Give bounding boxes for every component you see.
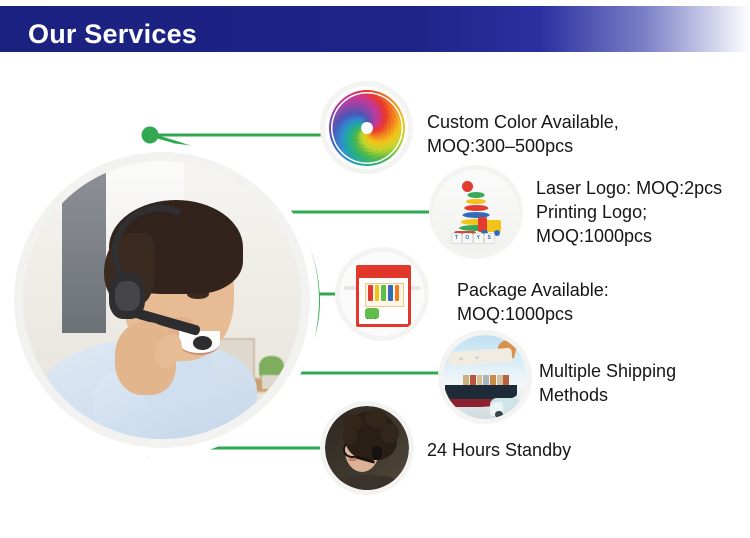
label-standby: 24 Hours Standby [427,438,571,462]
services-infographic: Our Services [0,0,750,538]
ring-toy-ball [462,181,473,192]
customer-service-photo [14,152,310,448]
node-icon-package [340,252,424,336]
label-package: Package Available: MOQ:1000pcs [457,278,609,326]
label-shipping: Multiple Shipping Methods [539,359,676,407]
package-box-icon [356,265,411,326]
label-custom-color: Custom Color Available, MOQ:300–500pcs [427,110,619,158]
node-icon-shipping [443,335,527,419]
label-logo-options: Laser Logo: MOQ:2pcs Printing Logo; MOQ:… [536,176,722,248]
node-icon-logo-options: T O Y S [434,170,518,254]
headset-icon [372,446,382,459]
node-icon-custom-color [325,86,408,169]
connector-dot-1 [142,127,159,144]
node-icon-standby [325,406,409,490]
